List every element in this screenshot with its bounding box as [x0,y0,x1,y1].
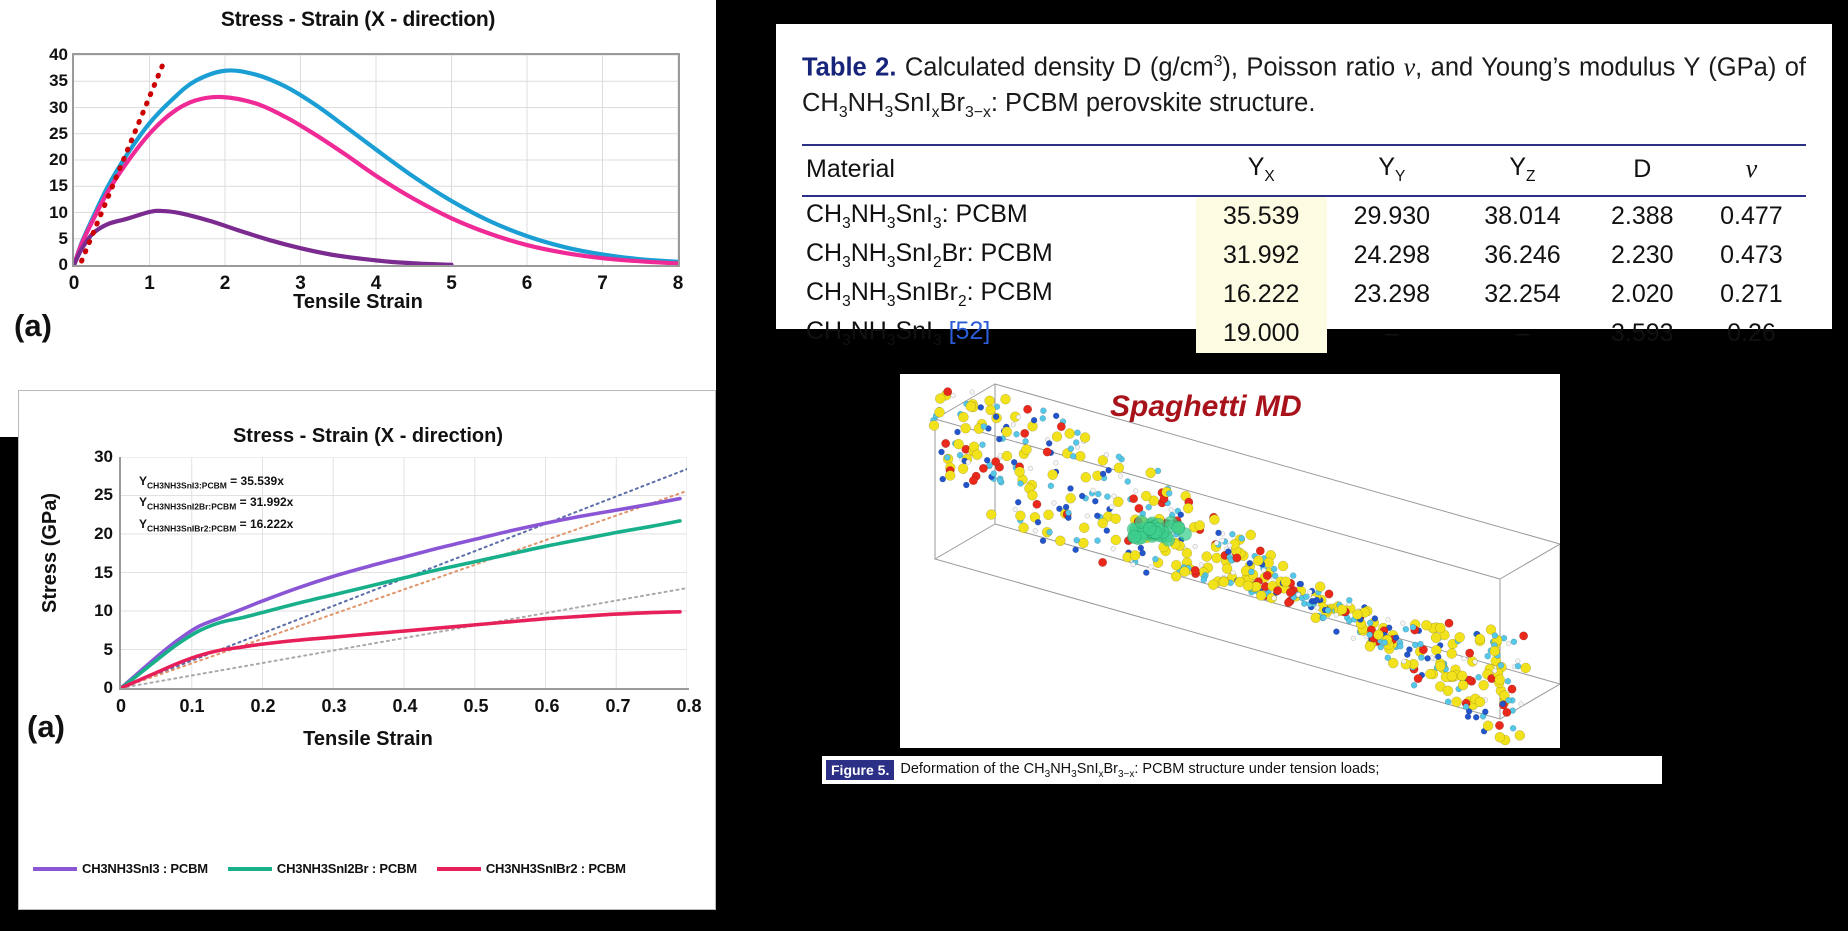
x-tick-bottom: 0.6 [534,696,559,717]
plot-area-top: 0510152025303540012345678 [72,53,680,267]
x-tick-bottom: 0 [116,696,126,717]
y-tick-top: 10 [49,203,68,223]
y-tick-bottom: 10 [94,601,113,621]
legend-swatch-icon [228,867,272,871]
cell-d: 2.388 [1588,196,1697,236]
fit-equation-annotations: YCH3NH3SnI3:PCBM = 35.539xYCH3NH3SnI2Br:… [139,473,293,537]
cell-yz: 38.014 [1457,196,1588,236]
x-tick-bottom: 0.5 [463,696,488,717]
col-header-nu: ν [1697,145,1806,196]
figure-5-caption: Figure 5. Deformation of the CH3NH3SnIxB… [822,756,1662,784]
y-tick-bottom: 20 [94,524,113,544]
y-tick-top: 25 [49,124,68,144]
y-tick-top: 20 [49,150,68,170]
x-tick-bottom: 0.4 [392,696,417,717]
y-tick-bottom: 30 [94,447,113,467]
plot-area-bottom: YCH3NH3SnI3:PCBM = 35.539xYCH3NH3SnI2Br:… [119,457,689,690]
cell-material: CH3NH3SnI3 [52] [802,314,1196,353]
table-row: CH3NH3SnI3: PCBM35.53929.93038.0142.3880… [802,196,1806,236]
y-tick-top: 0 [59,255,68,275]
table-2-panel: Table 2. Calculated density D (g/cm3), P… [776,24,1832,329]
col-header-material: Material [802,145,1196,196]
stress-strain-chart-bottom: Stress - Strain (X - direction) Stress (… [18,390,716,910]
cell-nu: 0.26 [1697,314,1806,353]
y-tick-top: 30 [49,98,68,118]
table-row: CH3NH3SnI3 [52]19.000––3.5930.26 [802,314,1806,353]
col-header-yx: YX [1196,145,1327,196]
cell-yy: 29.930 [1327,196,1458,236]
spaghetti-md-figure: Spaghetti MD [900,374,1560,748]
y-tick-top: 40 [49,45,68,65]
legend-label: CH3NH3SnI3 : PCBM [82,861,208,876]
x-tick-bottom: 0.8 [676,696,701,717]
legend-item-bottom-2: CH3NH3SnIBr2 : PCBM [437,861,626,876]
y-tick-bottom: 25 [94,485,113,505]
md-figure-title: Spaghetti MD [1110,390,1302,424]
table-row: CH3NH3SnI2Br: PCBM31.99224.29836.2462.23… [802,236,1806,275]
table-header-row: Material YX YY YZ D ν [802,145,1806,196]
cell-d: 2.230 [1588,236,1697,275]
col-header-d: D [1588,145,1697,196]
chart-title-bottom: Stress - Strain (X - direction) [19,425,717,448]
y-tick-bottom: 5 [104,640,113,660]
x-tick-bottom: 0.3 [321,696,346,717]
legend-swatch-icon [437,867,481,871]
legend-bottom: CH3NH3SnI3 : PCBMCH3NH3SnI2Br : PCBMCH3N… [33,861,717,876]
cell-yz: – [1457,314,1588,353]
cell-d: 2.020 [1588,275,1697,314]
cell-material: CH3NH3SnIBr2: PCBM [802,275,1196,314]
cell-yx: 35.539 [1196,196,1327,236]
cell-yy: – [1327,314,1458,353]
cell-yx: 31.992 [1196,236,1327,275]
cell-yx: 19.000 [1196,314,1327,353]
cell-nu: 0.477 [1697,196,1806,236]
fit-equation-0: YCH3NH3SnI3:PCBM = 35.539x [139,473,293,494]
x-tick-bottom: 0.7 [605,696,630,717]
x-axis-label-top: Tensile Strain [0,291,716,314]
legend-label: CH3NH3SnIBr2 : PCBM [486,861,626,876]
panel-letter-top: (a) [14,308,52,344]
fit-equation-1: YCH3NH3SnI2Br:PCBM = 31.992x [139,494,293,515]
cell-yy: 23.298 [1327,275,1458,314]
y-tick-top: 15 [49,176,68,196]
figure-caption-text: Deformation of the CH3NH3SnIxBr3−x: PCBM… [900,761,1379,780]
cell-d: 3.593 [1588,314,1697,353]
figure-label: Figure 5. [826,760,894,780]
cell-yy: 24.298 [1327,236,1458,275]
plot-svg-top [74,55,678,265]
cell-yz: 32.254 [1457,275,1588,314]
legend-item-bottom-1: CH3NH3SnI2Br : PCBM [228,861,417,876]
y-axis-label-bottom: Stress (GPa) [39,493,62,613]
table-row: CH3NH3SnIBr2: PCBM16.22223.29832.2542.02… [802,275,1806,314]
x-tick-bottom: 0.1 [179,696,204,717]
col-header-yz: YZ [1457,145,1588,196]
col-header-yy: YY [1327,145,1458,196]
cell-nu: 0.473 [1697,236,1806,275]
table-head: Material YX YY YZ D ν [802,145,1806,196]
legend-label: CH3NH3SnI2Br : PCBM [277,861,417,876]
panel-letter-bottom: (a) [27,709,65,745]
cell-yz: 36.246 [1457,236,1588,275]
cell-yx: 16.222 [1196,275,1327,314]
cell-material: CH3NH3SnI3: PCBM [802,196,1196,236]
table-2: Material YX YY YZ D ν CH3NH3SnI3: PCBM35… [802,144,1806,353]
series-line-2 [74,211,452,265]
y-tick-top: 5 [59,229,68,249]
y-tick-bottom: 0 [104,678,113,698]
fit-equation-2: YCH3NH3SnIBr2:PCBM = 16.222x [139,516,293,537]
cell-nu: 0.271 [1697,275,1806,314]
x-tick-bottom: 0.2 [250,696,275,717]
legend-item-bottom-0: CH3NH3SnI3 : PCBM [33,861,208,876]
y-tick-bottom: 15 [94,563,113,583]
table-body: CH3NH3SnI3: PCBM35.53929.93038.0142.3880… [802,196,1806,353]
y-tick-top: 35 [49,71,68,91]
legend-swatch-icon [33,867,77,871]
table-caption: Table 2. Calculated density D (g/cm3), P… [802,44,1806,130]
x-axis-label-bottom: Tensile Strain [19,728,717,751]
md-structure-svg [900,374,1560,748]
cell-material: CH3NH3SnI2Br: PCBM [802,236,1196,275]
stress-strain-chart-top: Stress - Strain (X - direction) Stress (… [0,0,716,437]
chart-title-top: Stress - Strain (X - direction) [0,8,716,32]
